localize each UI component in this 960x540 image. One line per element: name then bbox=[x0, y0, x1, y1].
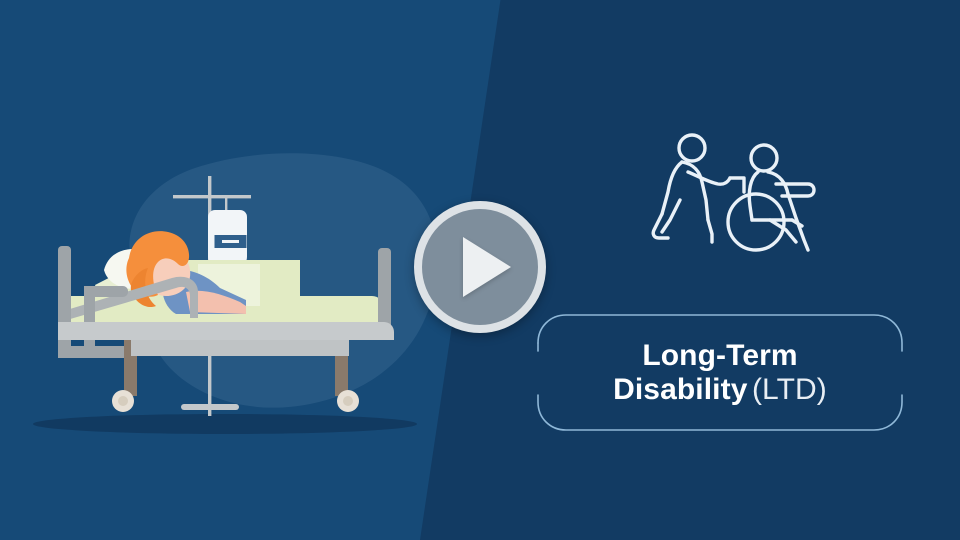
play-triangle-icon bbox=[463, 237, 511, 297]
title-abbreviation: (LTD) bbox=[752, 373, 827, 406]
video-thumbnail: Long-Term Disability (LTD) bbox=[0, 0, 960, 540]
title-line-2: Disability (LTD) bbox=[613, 373, 827, 407]
title-disability: Disability bbox=[613, 373, 747, 406]
hospital-bed-illustration bbox=[0, 0, 460, 540]
title-text-block: Long-Term Disability (LTD) bbox=[536, 313, 904, 432]
title-line-1: Long-Term bbox=[642, 339, 797, 373]
title-plate: Long-Term Disability (LTD) bbox=[536, 313, 904, 432]
title-long-term: Long-Term bbox=[642, 339, 797, 372]
wheelchair-assist-icon bbox=[650, 126, 836, 266]
play-button[interactable] bbox=[414, 201, 546, 333]
